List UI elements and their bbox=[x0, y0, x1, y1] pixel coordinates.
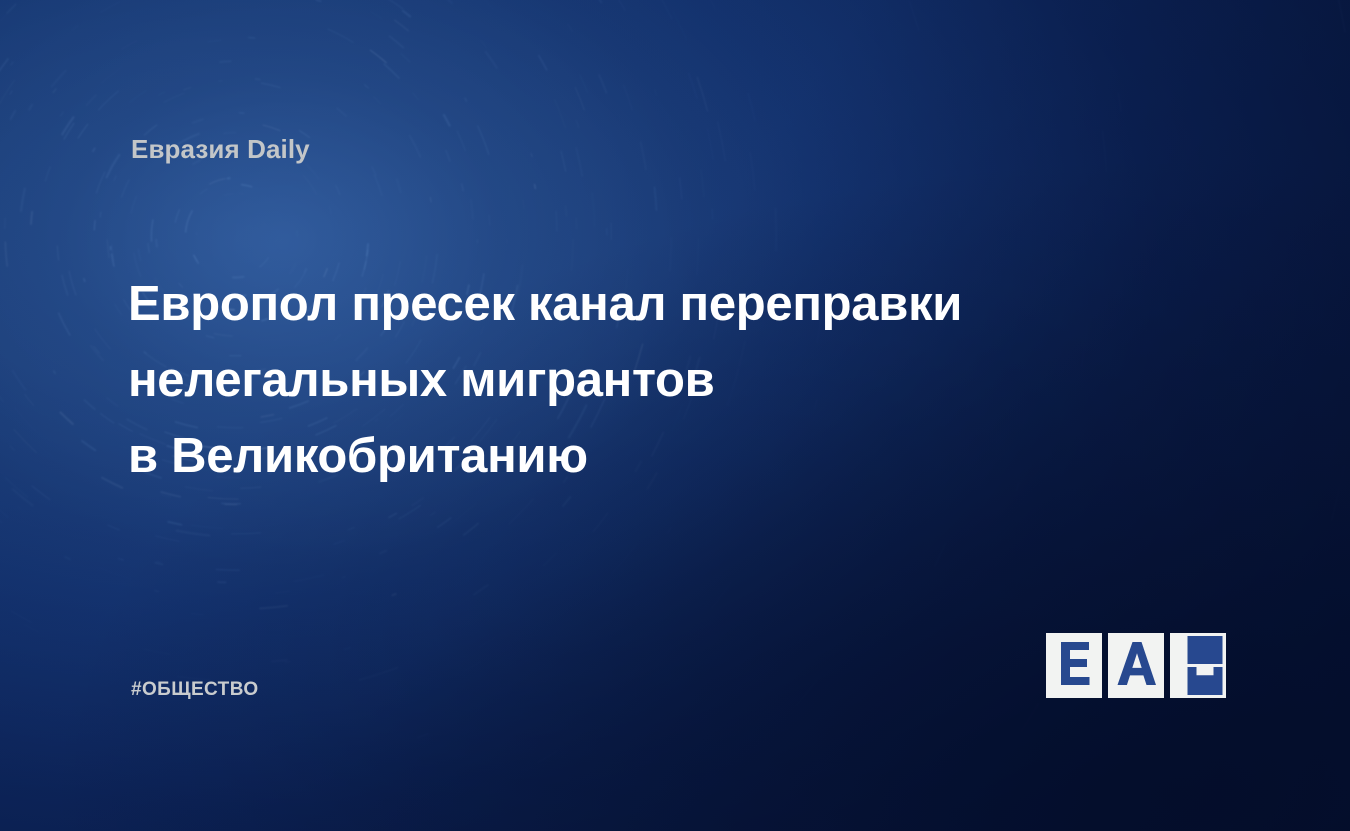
logo-tile-d bbox=[1170, 633, 1226, 698]
letter-a-glyph bbox=[1118, 642, 1157, 685]
headline: Европол пресек канал переправки нелегаль… bbox=[128, 266, 1128, 494]
letter-d-lower-glyph bbox=[1188, 667, 1223, 695]
logo-tile-a bbox=[1108, 633, 1164, 698]
logo-tile-e bbox=[1046, 633, 1102, 698]
letter-d-upper-glyph bbox=[1188, 636, 1223, 664]
ead-logo[interactable] bbox=[1046, 633, 1228, 698]
category-tag[interactable]: #ОБЩЕСТВО bbox=[131, 680, 259, 699]
card-content: Евразия Daily Европол пресек канал переп… bbox=[0, 0, 1350, 831]
letter-e-glyph bbox=[1061, 642, 1090, 685]
brand-name: Евразия Daily bbox=[131, 136, 310, 162]
share-card: Евразия Daily Европол пресек канал переп… bbox=[0, 0, 1350, 831]
